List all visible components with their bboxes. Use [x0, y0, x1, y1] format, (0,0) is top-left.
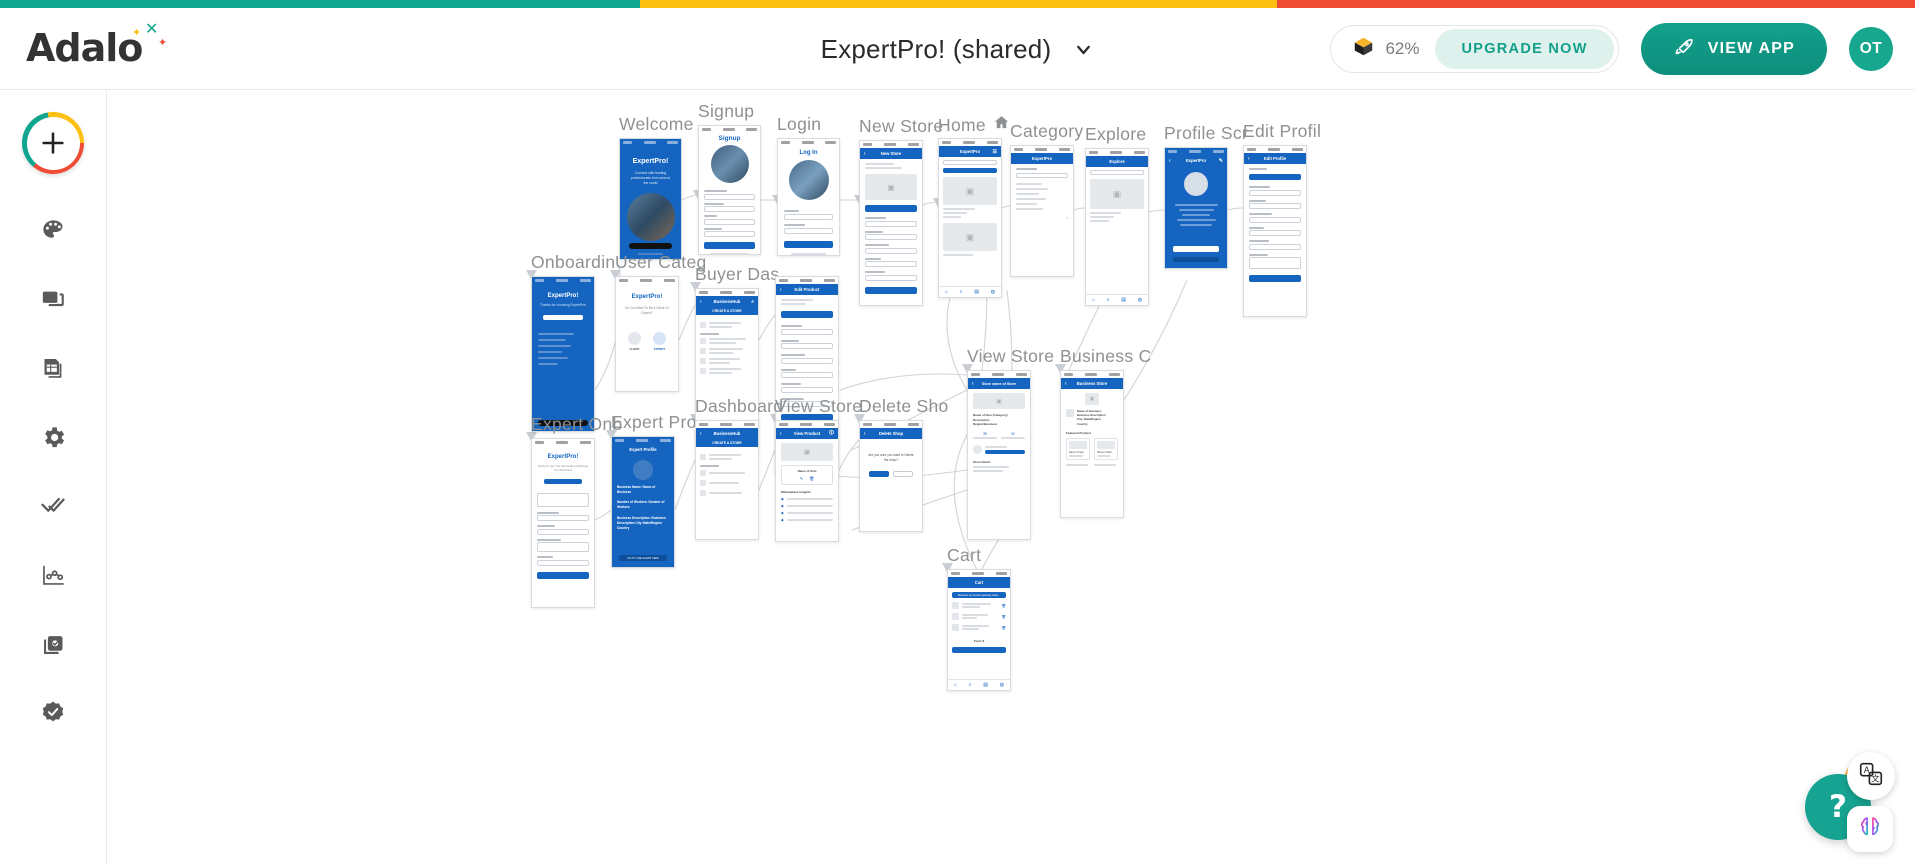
signup-avatar-image[interactable]: [711, 145, 749, 183]
edit-product-navbar: ‹Edit Product: [776, 284, 838, 295]
usage-percent: 62%: [1385, 39, 1419, 59]
screen-thumb-signup[interactable]: Signup: [698, 125, 761, 255]
settings-icon: [40, 424, 67, 456]
business-c-navbar: ‹Business Store: [1061, 378, 1123, 389]
rocket-icon: [1673, 36, 1695, 63]
delete-shop-yes-button[interactable]: [869, 471, 889, 477]
new-store-navbar: ‹New Store: [860, 148, 922, 159]
cart-navbar: Cart: [948, 577, 1010, 588]
ai-brain-icon: [1856, 813, 1884, 846]
screen-label-category[interactable]: Category: [1010, 121, 1083, 142]
welcome-title: ExpertPro!: [624, 158, 677, 165]
profile-navbar: ‹ExpertPro✎: [1165, 155, 1227, 166]
screen-label-dashboard[interactable]: Dashboard: [695, 396, 783, 417]
screen-thumb-user-category[interactable]: ExpertPro! Do You Want To Be A Client Or…: [615, 276, 679, 392]
signup-title: Signup: [699, 135, 760, 142]
tab-cart-icon: ▤: [974, 289, 979, 295]
sidebar-item-publish[interactable]: [22, 612, 84, 681]
onboarding-subtitle: Thanks for choosing ExpertPro!: [537, 303, 589, 308]
page-title[interactable]: ExpertPro! (shared): [821, 34, 1052, 65]
view-store-1-navbar: ‹View Product🛈: [776, 428, 838, 439]
translate-icon: A 文: [1858, 761, 1884, 792]
screen-thumb-view-store-2[interactable]: ‹Store name of Store ▣ Name of Item (Cat…: [967, 370, 1031, 540]
screen-label-buyer-dash[interactable]: Buyer Das: [695, 264, 779, 285]
screen-thumb-explore[interactable]: Explore ▣ ⌂⌕▤◍: [1085, 148, 1149, 306]
usage-pill: 62% UPGRADE NOW: [1330, 25, 1618, 73]
app-header: Adalo ✦ ✕ ✦ ExpertPro! (shared) 62%: [0, 8, 1915, 90]
publish-icon: [40, 631, 67, 663]
branding-icon: [40, 217, 67, 249]
tab-home-icon: ⌂: [1092, 297, 1095, 303]
logo-sparkle-teal-icon: ✕: [145, 22, 158, 38]
strip-segment-red: [1277, 0, 1915, 8]
cart-checkout-button[interactable]: [952, 647, 1006, 653]
buyer-dash-navbar: ‹BusinessHub⌕: [696, 296, 758, 307]
app-body: Welcome ExpertPro! Connect with leading …: [0, 90, 1915, 864]
expert-profile-avatar: [633, 460, 653, 480]
cart-total-label: Total: $: [952, 639, 1006, 643]
screens-icon: [40, 286, 67, 318]
login-title: Log In: [778, 150, 839, 156]
expert-profile-navbar: Expert Profile: [612, 444, 674, 455]
screen-thumb-profile[interactable]: ‹ExpertPro✎: [1164, 147, 1228, 269]
screen-thumb-category[interactable]: ExpertPro ›: [1010, 145, 1074, 277]
user-category-client-option[interactable]: CLIENT: [628, 332, 641, 351]
welcome-subtitle: Connect with leading professionals from …: [624, 171, 677, 186]
expert-profile-business-label: Business Name: Name of Business: [617, 485, 669, 495]
floating-widgets: ? A 文: [1767, 736, 1897, 854]
home-navbar: ExpertPro☰: [939, 146, 1001, 157]
user-category-expert-option[interactable]: EXPERT: [653, 332, 666, 351]
delete-shop-navbar: ‹Delete Shop: [860, 428, 922, 439]
tab-profile-icon: ◍: [1138, 297, 1142, 303]
screen-thumb-business-c[interactable]: ‹Business Store ▣ Name of BusinessBusine…: [1060, 370, 1124, 518]
delete-shop-no-button[interactable]: [893, 471, 913, 477]
ai-assistant-button[interactable]: [1847, 806, 1893, 852]
screen-label-edit-profile[interactable]: Edit Profil: [1243, 121, 1321, 142]
adalo-logo[interactable]: Adalo ✦ ✕ ✦: [26, 26, 142, 70]
tab-home-icon: ⌂: [945, 289, 948, 295]
screen-label-expert-onboarding[interactable]: Expert Onb: [531, 414, 623, 435]
screen-label-signup[interactable]: Signup: [698, 101, 754, 122]
logo-wordmark: Adalo: [26, 26, 142, 70]
sidebar-item-analytics[interactable]: [22, 543, 84, 612]
buyer-dash-section-title: CREATE A STORE: [696, 307, 758, 315]
screen-thumb-expert-onboarding[interactable]: ExpertPro! Verify To Get The Information…: [531, 438, 595, 608]
welcome-cta-button[interactable]: [629, 243, 672, 249]
plus-icon: [27, 117, 80, 170]
checklist-icon: [39, 492, 67, 525]
screen-label-business-c[interactable]: Business C: [1060, 346, 1152, 367]
box-icon: [1353, 36, 1374, 62]
sidebar-item-screens[interactable]: [22, 267, 84, 336]
sidebar-item-settings[interactable]: [22, 405, 84, 474]
logo-sparkle-yellow-icon: ✦: [132, 28, 141, 39]
view-store-2-detail-label: Store Detail:: [973, 460, 1025, 464]
dashboard-navbar: ‹BusinessHub: [696, 428, 758, 439]
user-category-subtitle: Do You Want To Be A Client Or Expert?: [621, 306, 673, 316]
header-right-cluster: 62% UPGRADE NOW VIEW APP OT: [1330, 8, 1893, 90]
cart-tabbar[interactable]: ⌂⌕▤◍: [948, 679, 1010, 690]
profile-secondary-button[interactable]: [1173, 257, 1219, 262]
screen-label-login[interactable]: Login: [777, 114, 821, 135]
dashboard-section-title: CREATE A STORE: [696, 439, 758, 447]
home-icon: [993, 114, 1010, 136]
expert-profile-desc-label: Business Description: Business Descripti…: [617, 516, 669, 531]
tab-search-icon: ⌕: [1107, 297, 1110, 303]
edit-profile-navbar: ‹Edit Profile: [1244, 153, 1306, 164]
avatar[interactable]: OT: [1849, 27, 1893, 71]
screens-canvas[interactable]: Welcome ExpertPro! Connect with leading …: [107, 90, 1915, 864]
sidebar-item-checklist[interactable]: [22, 474, 84, 543]
question-mark-icon: ?: [1829, 789, 1847, 825]
screen-thumb-onboarding[interactable]: ExpertPro! Thanks for choosing ExpertPro…: [531, 276, 595, 432]
screen-label-view-store-1[interactable]: View Store: [775, 396, 862, 417]
login-avatar-image: [789, 160, 829, 200]
edit-icon: ✎: [800, 476, 803, 481]
view-app-label: VIEW APP: [1708, 40, 1795, 58]
strip-segment-yellow: [640, 0, 1278, 8]
screen-label-cart[interactable]: Cart: [947, 545, 981, 566]
translate-button[interactable]: A 文: [1847, 752, 1895, 800]
add-button[interactable]: [22, 112, 84, 174]
upgrade-now-button[interactable]: UPGRADE NOW: [1435, 29, 1613, 69]
screen-label-home[interactable]: Home: [938, 114, 1010, 136]
view-store-2-navbar: ‹Store name of Store: [968, 378, 1030, 389]
business-c-featured-label: Featured Product: [1066, 431, 1118, 435]
database-icon: [40, 355, 67, 387]
delete-icon: 🗑: [809, 476, 814, 481]
analytics-icon: [40, 562, 67, 594]
tab-search-icon: ⌕: [969, 682, 972, 688]
delete-shop-confirm-text: Are you sure you want to Delete the shop…: [867, 453, 915, 463]
expert-profile-cta-button[interactable]: GO TO THE CLIENT VIEW: [619, 555, 667, 561]
expert-profile-workers-label: Number of Workers: Number of Workers: [617, 500, 669, 510]
tab-profile-icon: ◍: [991, 289, 995, 295]
cart-banner: Welcome to premium gateway trade…: [952, 592, 1006, 598]
screen-label-new-store[interactable]: New Store: [859, 116, 943, 137]
tab-cart-icon: ▤: [1121, 297, 1126, 303]
screen-label-welcome[interactable]: Welcome: [619, 114, 694, 135]
svg-text:文: 文: [1871, 772, 1880, 784]
screen-label-profile[interactable]: Profile Scr: [1164, 123, 1248, 144]
chevron-down-icon[interactable]: [1073, 39, 1094, 60]
screen-thumb-welcome[interactable]: ExpertPro! Connect with leading professi…: [619, 138, 682, 260]
logo-sparkle-red-icon: ✦: [158, 38, 167, 49]
screen-thumb-dashboard[interactable]: ‹BusinessHub CREATE A STORE: [695, 420, 759, 540]
sidebar-item-branding[interactable]: [22, 198, 84, 267]
tab-search-icon: ⌕: [960, 289, 963, 295]
expert-onb-title: ExpertPro!: [537, 454, 589, 460]
sidebar-item-database[interactable]: [22, 336, 84, 405]
screen-thumb-cart[interactable]: Cart Welcome to premium gateway trade… 🗑…: [947, 569, 1011, 691]
home-tabbar[interactable]: ⌂⌕▤◍: [939, 286, 1001, 297]
view-store-2-item-info: Name of Item (Category)DescriptionRegion…: [973, 413, 1025, 427]
profile-avatar: [1184, 172, 1208, 196]
screen-thumb-delete-shop[interactable]: ‹Delete Shop Are you sure you want to De…: [859, 420, 923, 532]
category-navbar: ExpertPro: [1011, 153, 1073, 164]
tab-home-icon: ⌂: [954, 682, 957, 688]
screen-label-view-store-2[interactable]: View Store: [967, 346, 1054, 367]
top-color-strip: [0, 0, 1915, 8]
badge-icon: [39, 699, 67, 732]
screen-label-onboarding[interactable]: Onboardin: [531, 252, 615, 273]
tab-profile-icon: ◍: [1000, 682, 1004, 688]
expert-onb-subtitle: Verify To Get The Information Matching Y…: [537, 464, 589, 473]
user-category-title: ExpertPro!: [621, 294, 673, 300]
welcome-hero-image: [627, 193, 675, 241]
screen-label-expert-profile[interactable]: Expert Pro: [611, 412, 697, 433]
screen-label-delete-shop[interactable]: Delete Sho: [859, 396, 949, 417]
tab-cart-icon: ▤: [983, 682, 988, 688]
usage-meter: 62%: [1353, 36, 1419, 62]
screen-label-user-category[interactable]: User Categ: [615, 252, 707, 273]
screen-thumb-new-store[interactable]: ‹New Store ▣: [859, 140, 923, 306]
view-app-button[interactable]: VIEW APP: [1641, 23, 1827, 75]
sidebar-item-badge[interactable]: [22, 681, 84, 750]
left-sidebar: [0, 90, 107, 864]
screen-thumb-home[interactable]: ExpertPro☰ ▣ ▣ ⌂⌕▤◍: [938, 138, 1002, 298]
onboarding-title: ExpertPro!: [537, 293, 589, 299]
screen-thumb-edit-profile[interactable]: ‹Edit Profile: [1243, 145, 1307, 317]
strip-segment-teal: [0, 0, 640, 8]
screen-label-explore[interactable]: Explore: [1085, 124, 1146, 145]
profile-action-button[interactable]: [1173, 246, 1219, 252]
screen-thumb-view-store-1[interactable]: ‹View Product🛈 ▣ Name of Item ✎🗑 Marketp…: [775, 420, 839, 542]
explore-navbar: Explore: [1086, 156, 1148, 167]
screen-thumb-expert-profile[interactable]: Expert Profile Business Name: Name of Bu…: [611, 436, 675, 568]
screen-thumb-login[interactable]: Log In: [777, 138, 840, 256]
explore-tabbar[interactable]: ⌂⌕▤◍: [1086, 294, 1148, 305]
